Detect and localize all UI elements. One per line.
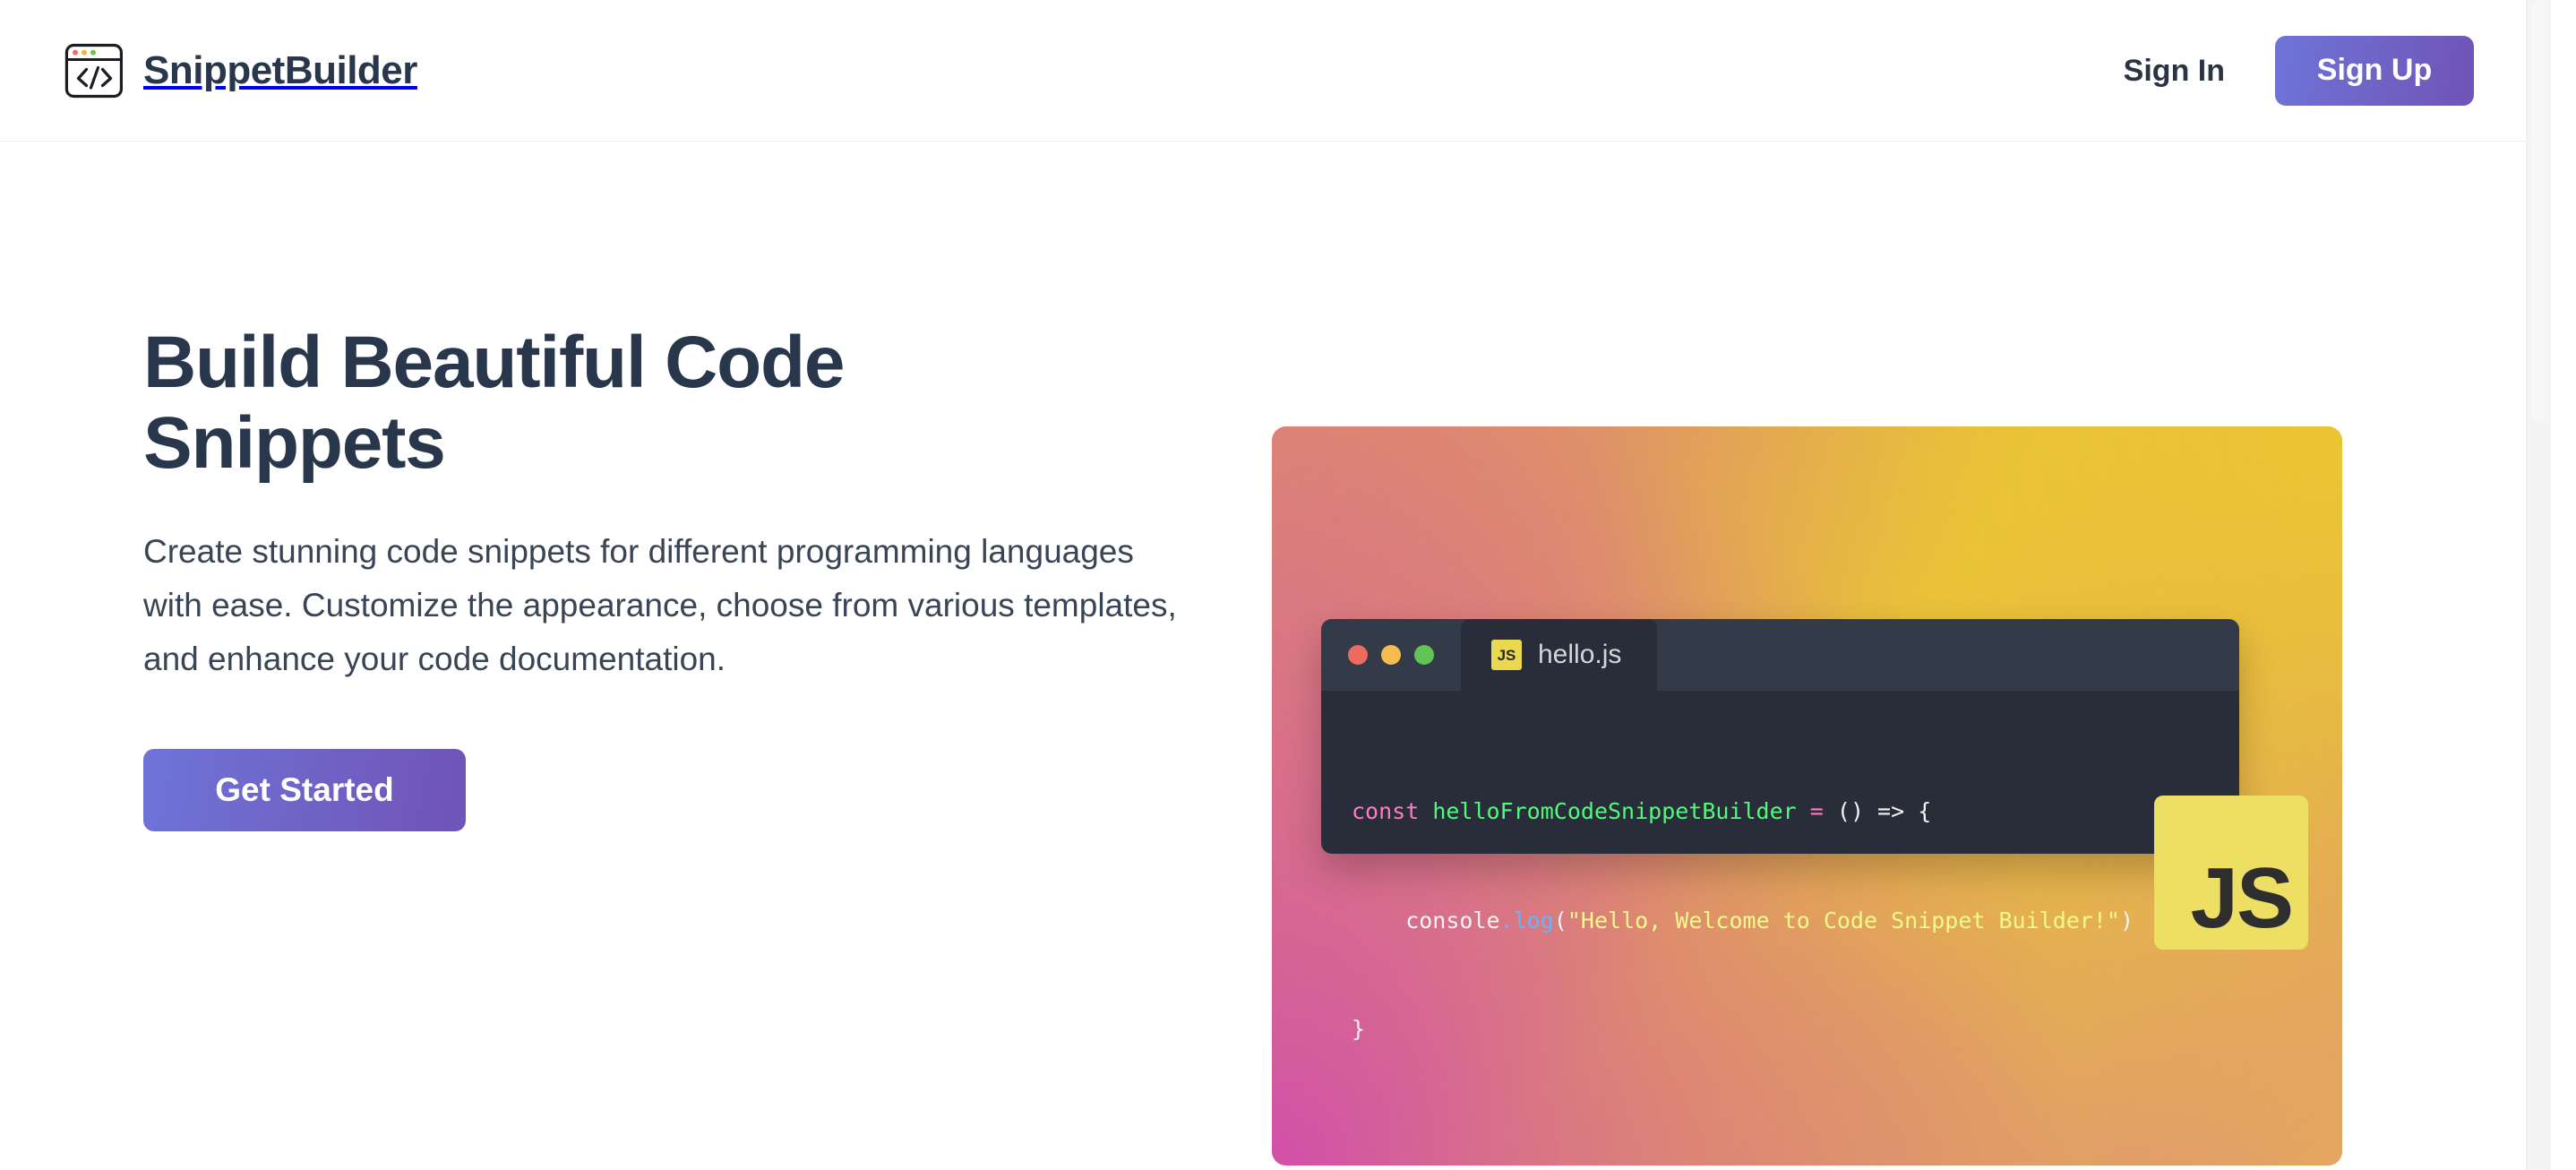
code-line: const helloFromCodeSnippetBuilder = () =…: [1352, 794, 2239, 830]
code-token: .log: [1500, 908, 1554, 933]
hero-section: Build Beautiful Code Snippets Create stu…: [0, 142, 2551, 1166]
main-nav: Sign In Sign Up: [2120, 36, 2486, 106]
brand-logo-link[interactable]: SnippetBuilder: [64, 41, 417, 100]
code-token: ): [2120, 908, 2134, 933]
page-title: Build Beautiful Code Snippets: [143, 323, 949, 484]
code-token: () => {: [1824, 798, 1931, 824]
code-window-icon: [64, 41, 124, 100]
code-token: "Hello, Welcome to Code Snippet Builder!…: [1567, 908, 2120, 933]
code-line: console.log("Hello, Welcome to Code Snip…: [1352, 903, 2239, 940]
brand-name: SnippetBuilder: [143, 51, 417, 90]
sign-in-button[interactable]: Sign In: [2120, 50, 2228, 91]
code-token: =: [1810, 798, 1824, 824]
code-token: [1419, 798, 1432, 824]
code-token: const: [1352, 798, 1419, 824]
code-token: [1797, 798, 1810, 824]
js-file-icon: JS: [1491, 640, 1522, 670]
minimize-dot-icon[interactable]: [1381, 645, 1401, 665]
js-badge-label: JS: [2191, 860, 2292, 937]
code-block: const helloFromCodeSnippetBuilder = () =…: [1321, 691, 2239, 1121]
hero-subtitle: Create stunning code snippets for differ…: [143, 525, 1182, 686]
code-editor-window: JS hello.js const helloFromCodeSnippetBu…: [1321, 619, 2239, 854]
traffic-lights: [1348, 645, 1434, 665]
hero-copy: Build Beautiful Code Snippets Create stu…: [0, 283, 1272, 831]
page-scrollbar[interactable]: [2526, 0, 2551, 1170]
code-token: console: [1352, 908, 1500, 933]
code-token: helloFromCodeSnippetBuilder: [1432, 798, 1796, 824]
code-token: }: [1352, 1016, 1365, 1042]
gradient-preview-card: JS hello.js const helloFromCodeSnippetBu…: [1272, 426, 2342, 1166]
code-line: }: [1352, 1011, 2239, 1048]
javascript-language-badge: JS: [2154, 796, 2308, 950]
close-dot-icon[interactable]: [1348, 645, 1368, 665]
editor-tab-label: hello.js: [1538, 641, 1621, 668]
maximize-dot-icon[interactable]: [1414, 645, 1434, 665]
hero-preview: JS hello.js const helloFromCodeSnippetBu…: [1272, 283, 2551, 1166]
page-root: SnippetBuilder Sign In Sign Up Build Bea…: [0, 0, 2551, 1170]
scrollbar-thumb[interactable]: [2531, 0, 2547, 421]
code-token: (: [1554, 908, 1567, 933]
site-header: SnippetBuilder Sign In Sign Up: [0, 0, 2551, 142]
editor-tab-hello-js[interactable]: JS hello.js: [1461, 619, 1657, 691]
sign-up-button[interactable]: Sign Up: [2275, 36, 2474, 106]
editor-titlebar: JS hello.js: [1321, 619, 2239, 691]
get-started-button[interactable]: Get Started: [143, 749, 466, 831]
